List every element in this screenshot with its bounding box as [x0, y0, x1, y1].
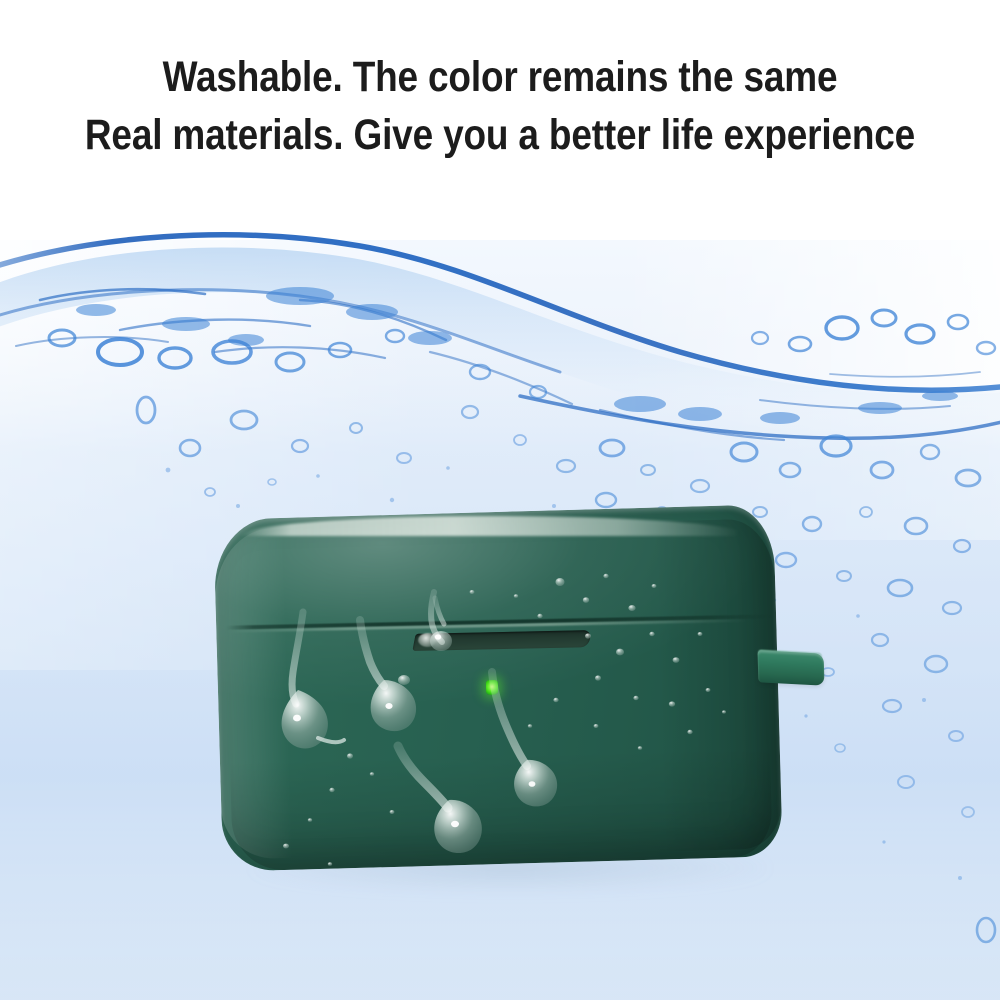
product-banner: Washable. The color remains the same Rea…: [0, 0, 1000, 1000]
hook-tab[interactable]: [757, 650, 824, 685]
led-indicator: [486, 680, 498, 695]
case-bottom-shading: [230, 746, 773, 871]
headline-line-1: Washable. The color remains the same: [70, 52, 930, 102]
headline-line-2: Real materials. Give you a better life e…: [70, 110, 930, 160]
headline-block: Washable. The color remains the same Rea…: [0, 52, 1000, 160]
water-right-fade: [620, 240, 1000, 540]
product-case[interactable]: [218, 512, 838, 872]
